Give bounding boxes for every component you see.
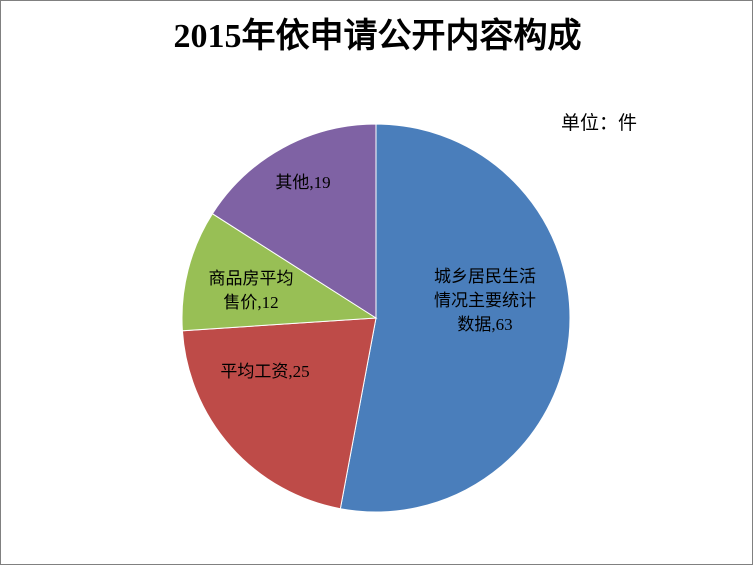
pie-label-commodity-housing-average-price: 商品房平均售价,12 (179, 267, 323, 315)
pie-label-urban-rural-residents-living: 城乡居民生活情况主要统计数据,63 (409, 265, 561, 337)
chart-container: 2015年依申请公开内容构成 单位：件 城乡居民生活情况主要统计数据,63 平均… (0, 0, 753, 565)
pie-label-line-3: 数据,63 (457, 315, 512, 334)
pie-label-line-1: 城乡居民生活 (434, 267, 536, 286)
pie-label-other: 其他,19 (244, 171, 362, 195)
pie-label-line-1: 商品房平均 (209, 269, 294, 288)
pie-label-line-2: 售价,12 (223, 293, 278, 312)
pie-label-average-wage: 平均工资,25 (187, 360, 343, 384)
pie-chart-graphic (1, 1, 753, 565)
pie-label-line-1: 平均工资,25 (220, 362, 309, 381)
pie-label-line-1: 其他,19 (275, 173, 330, 192)
pie-label-line-2: 情况主要统计 (434, 291, 536, 310)
